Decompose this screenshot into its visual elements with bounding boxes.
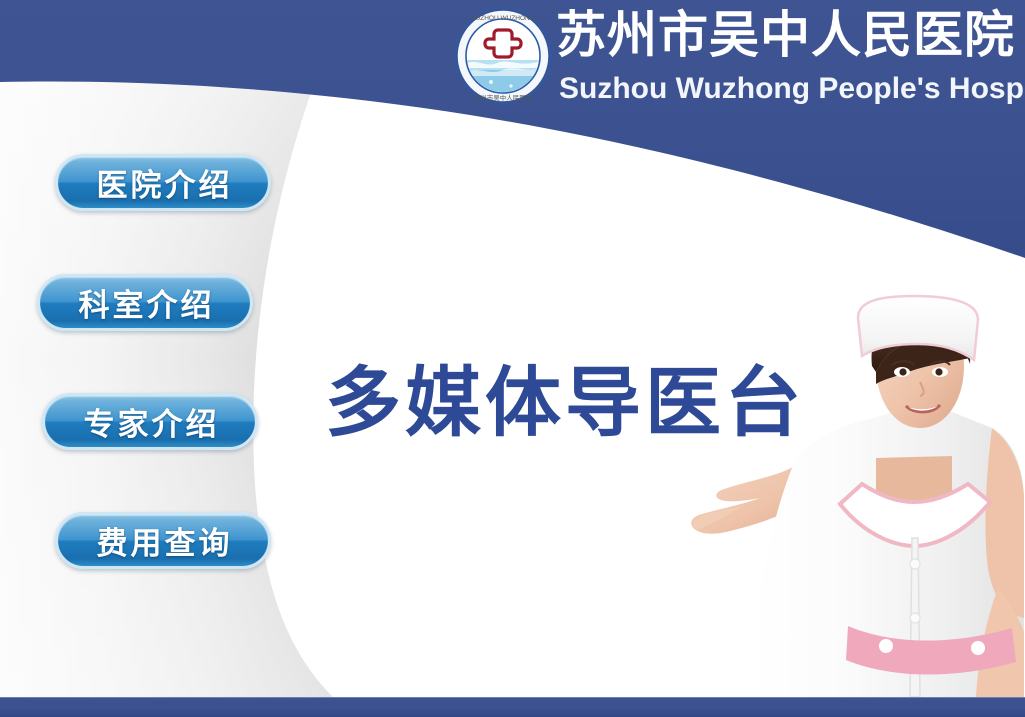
hospital-name-en: Suzhou Wuzhong People's Hospital	[559, 72, 1025, 106]
svg-text:SUZHOU WUZHONG: SUZHOU WUZHONG	[471, 15, 535, 22]
svg-text:苏州市吴中人民医院: 苏州市吴中人民医院	[474, 93, 533, 102]
sidebar-item-label: 专家介绍	[81, 399, 220, 444]
footer-bar	[0, 697, 1025, 717]
sidebar-item-fee-inquiry[interactable]: 费用查询	[55, 512, 271, 569]
sidebar-item-hospital-intro[interactable]: 医院介绍	[55, 154, 271, 211]
sidebar-nav: 医院介绍 科室介绍 专家介绍 费用查询	[0, 0, 340, 717]
hospital-emblem-icon: SUZHOU WUZHONG 苏州市吴中人民医院	[455, 8, 551, 104]
sidebar-item-department-intro[interactable]: 科室介绍	[37, 274, 253, 331]
nurse-presenter-photo	[600, 288, 1025, 697]
page-title: 多媒体导医台	[325, 358, 805, 448]
hospital-name-cn: 苏州市吴中人民医院	[556, 7, 1015, 63]
sidebar-item-label: 科室介绍	[76, 280, 215, 325]
kiosk-screen: SUZHOU WUZHONG 苏州市吴中人民医院 苏州市吴中人民医院 Suzho…	[0, 0, 1025, 717]
sidebar-item-expert-intro[interactable]: 专家介绍	[42, 393, 258, 450]
sidebar-item-label: 费用查询	[94, 518, 233, 563]
sidebar-item-label: 医院介绍	[94, 160, 233, 205]
